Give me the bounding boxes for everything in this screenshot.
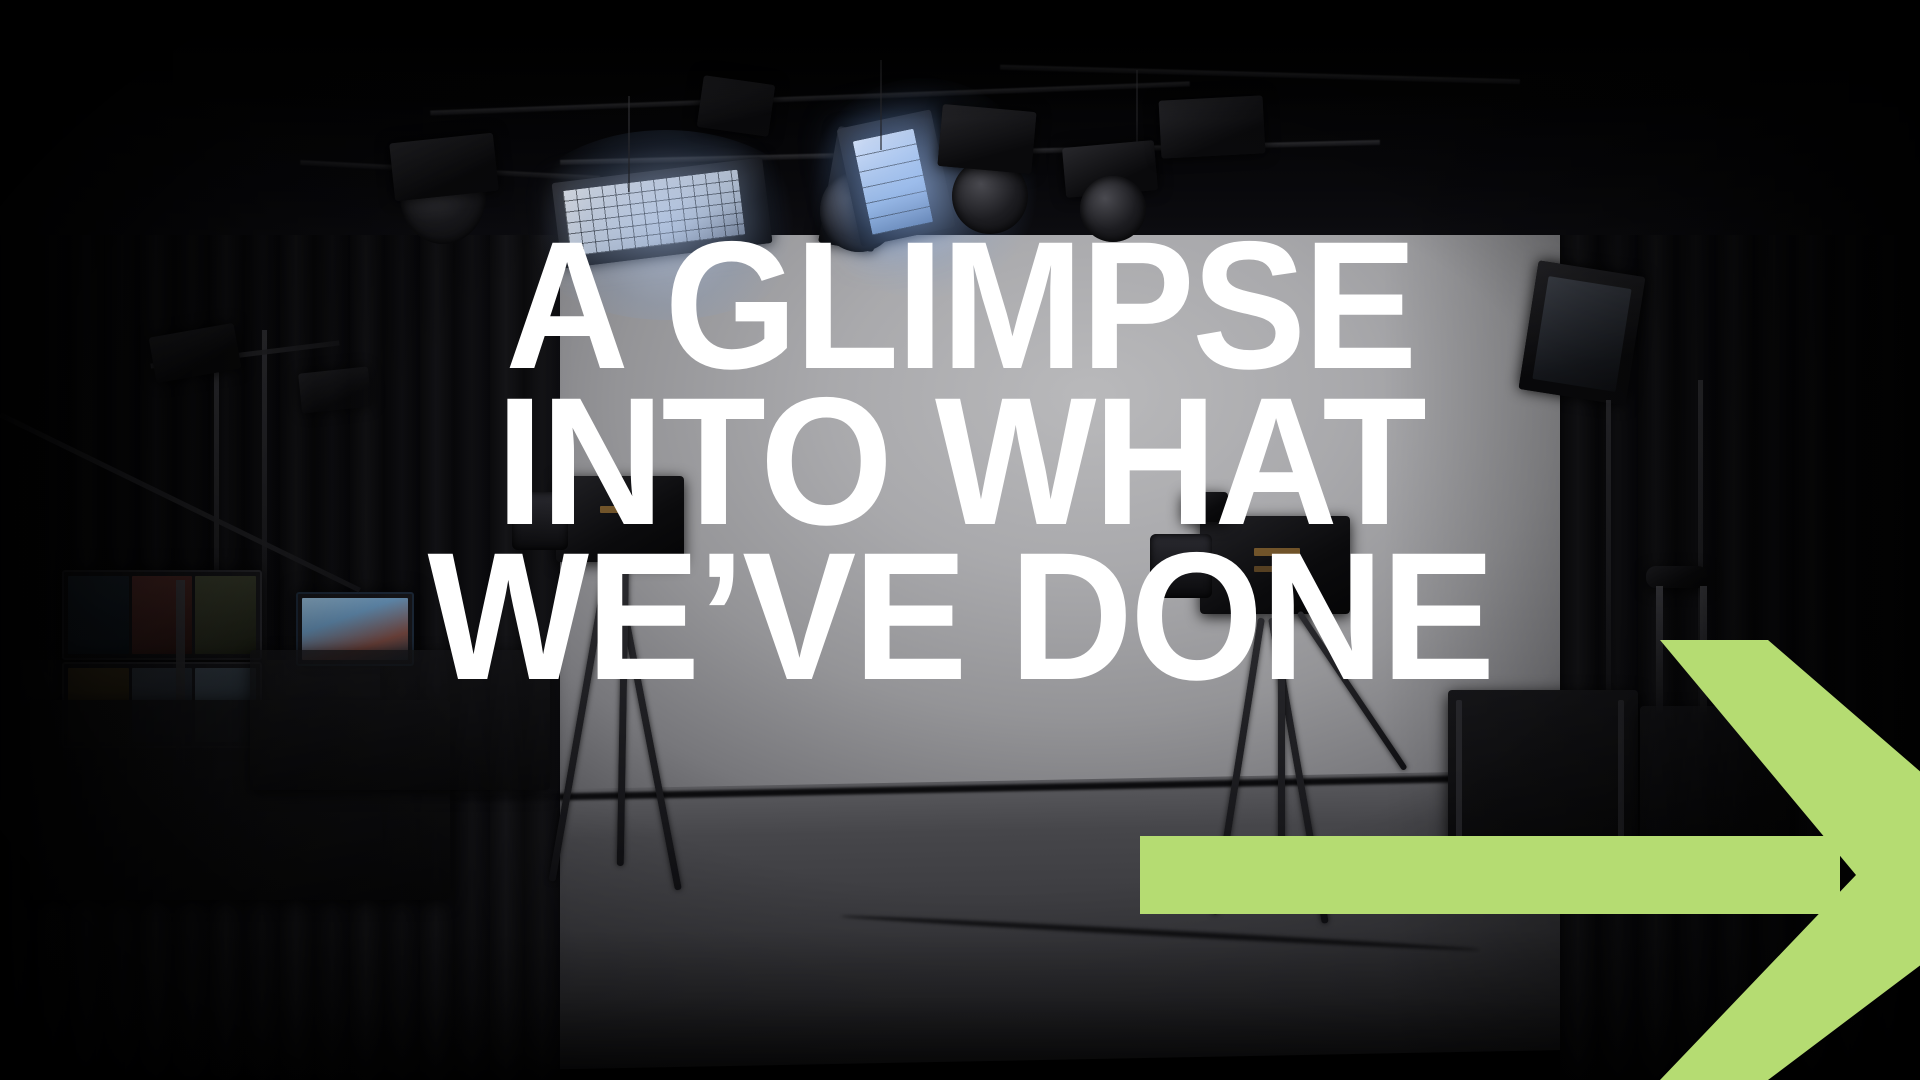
slide-headline: A GLIMPSE INTO WHAT WE’VE DONE xyxy=(58,228,1863,695)
hanging-cable xyxy=(628,96,630,192)
hanging-cable xyxy=(880,60,882,150)
overhead-light-housing xyxy=(1159,95,1266,158)
fresnel-light-housing xyxy=(937,104,1036,174)
forward-arrow[interactable] xyxy=(1140,640,1920,1080)
profile-spot-light xyxy=(697,75,776,137)
hanging-cable xyxy=(1136,70,1138,150)
forward-arrow-icon[interactable] xyxy=(1140,640,1920,1080)
fresnel-light-housing xyxy=(389,133,498,202)
slide-canvas: A GLIMPSE INTO WHAT WE’VE DONE xyxy=(0,0,1920,1080)
